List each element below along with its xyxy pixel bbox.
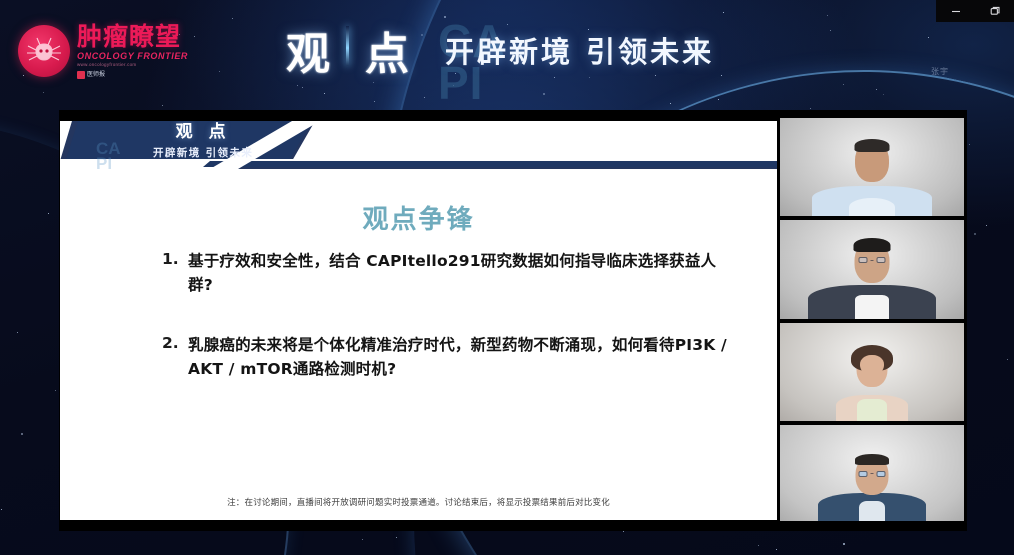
crab-emblem-icon [18,25,70,77]
participant-glasses-icon [859,257,886,263]
header-subtitle: 开辟新境 引领未来 [445,29,714,71]
participant-glasses-icon [859,471,886,477]
participant-tile-4[interactable] [780,425,964,523]
star-dot [362,539,363,540]
crab-glyph-icon [24,34,64,70]
participant-collar [849,198,895,216]
participant-inner [859,501,885,523]
participant-hair [855,454,889,465]
header-title-left: 观 [286,18,336,82]
star-dot [396,537,397,538]
presentation-stage: CAPI 观 点 开辟新境 引领未来 观点争锋 1. 基于疗效和安全性，结合 C… [59,110,967,531]
logo-title-en: ONCOLOGY FRONTIER [77,52,188,61]
question-item: 2. 乳腺癌的未来将是个体化精准治疗时代，新型药物不断涌现，如何看待PI3K /… [162,333,727,381]
star-dot [758,545,759,546]
glasses-lens-left [859,257,868,263]
user-watermark: 张宇 [931,66,949,77]
star-dot [55,390,56,391]
brand-logo: 肿瘤瞭望 ONCOLOGY FRONTIER www.oncologyfront… [18,24,188,79]
badge-square-icon [77,71,85,79]
logo-title-cn: 肿瘤瞭望 [77,24,188,49]
slide-footnote: 注：在讨论期间，直播间将开放调研问题实时投票通道。讨论结束后，将显示投票结果前后… [60,496,777,508]
badge-label: 医师报 [87,72,105,78]
star-dot [843,543,845,545]
participant-hair [854,238,891,252]
question-number: 1. [162,249,188,297]
participant-face-opening [860,355,884,375]
page-header: 肿瘤瞭望 ONCOLOGY FRONTIER www.oncologyfront… [0,0,1014,104]
question-list: 1. 基于疗效和安全性，结合 CAPItello291研究数据如何指导临床选择获… [162,249,727,417]
star-dot [21,433,23,435]
star-dot [623,531,624,532]
star-dot [17,332,18,333]
slide-heading: 观点争锋 [60,199,777,236]
star-dot [974,233,976,235]
header-title: 观 点 开辟新境 引领未来 [286,18,714,82]
glasses-bridge [871,473,874,474]
star-dot [810,108,811,109]
banner-capi-watermark: CAPI [96,141,121,172]
title-divider [346,26,349,66]
stage-bottom-bar [59,521,967,531]
star-dot [48,213,49,214]
question-text: 乳腺癌的未来将是个体化精准治疗时代，新型药物不断涌现，如何看待PI3K / AK… [188,333,727,381]
star-dot [776,549,777,550]
header-title-right: 点 [365,18,415,82]
participant-shirt [855,295,889,319]
glasses-lens-right [877,257,886,263]
banner-text-group: 观 点 开辟新境 引领未来 [153,124,253,159]
participant-tile-3[interactable] [780,323,964,421]
app-window: 肿瘤瞭望 ONCOLOGY FRONTIER www.oncologyfront… [0,0,1014,555]
glasses-lens-left [859,471,868,477]
slide-content: CAPI 观 点 开辟新境 引领未来 观点争锋 1. 基于疗效和安全性，结合 C… [60,121,777,520]
logo-partner-badge: 医师报 [77,71,188,79]
slide-banner: CAPI 观 点 开辟新境 引领未来 [60,121,777,169]
star-dot [1007,359,1008,360]
star-dot [162,105,163,106]
glasses-lens-right [877,471,886,477]
participant-tile-1[interactable] [780,118,964,216]
question-item: 1. 基于疗效和安全性，结合 CAPItello291研究数据如何指导临床选择获… [162,249,727,297]
question-number: 2. [162,333,188,381]
star-dot [969,144,970,145]
question-text: 基于疗效和安全性，结合 CAPItello291研究数据如何指导临床选择获益人群… [188,249,727,297]
participant-tile-2[interactable] [780,220,964,318]
participant-hair [855,139,890,152]
logo-website: www.oncologyfrontier.com [77,63,188,68]
banner-subtitle: 开辟新境 引领未来 [153,148,253,159]
video-participant-column [780,118,964,523]
participant-top [857,399,887,421]
banner-title: 观 点 [176,124,231,141]
star-dot [986,225,987,226]
glasses-bridge [871,260,874,261]
star-dot [1,509,2,510]
